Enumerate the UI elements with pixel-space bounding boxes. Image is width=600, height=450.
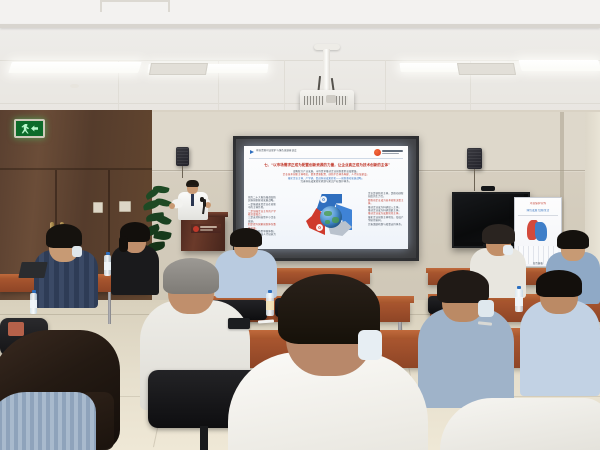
running-man-icon (21, 124, 30, 134)
slide-right-line: 强化企业创新主体地位，形成产学研用协同。 (368, 216, 404, 223)
video-conference-camera (481, 186, 495, 191)
slide-left-line: 党的二十大报告强调加快实施创新驱动发展战略。 (248, 196, 278, 203)
podium-microphone (200, 197, 204, 202)
bullet-triangle-icon (250, 150, 254, 154)
recycle-badge-icon: ♻ (316, 224, 323, 231)
speaker-cable (474, 169, 475, 191)
ceiling-tile-line (100, 0, 102, 12)
ceiling-light (518, 60, 600, 71)
slide-right-line: 要推动企业成为技术创新决策主体。 (368, 199, 404, 206)
ceiling-vent (457, 63, 516, 75)
presenter-hand (169, 203, 175, 209)
globe-icon (320, 206, 342, 228)
smartphone[interactable] (228, 318, 250, 329)
speaker-cable (182, 166, 183, 178)
ceiling-tile-line (0, 60, 600, 61)
ceiling-tile-line (168, 0, 170, 12)
exit-sign-label: EXIT (29, 128, 30, 129)
ceiling-tile-line (100, 0, 170, 2)
ceiling-light (8, 62, 142, 73)
recycle-badge-icon: ♻ (320, 196, 327, 203)
chair-post (200, 426, 208, 450)
paper-cup[interactable] (8, 322, 24, 336)
slide-right-line: 企业是创新的主体，是推动创新创造的生力军。 (368, 192, 404, 199)
wall-speaker (467, 148, 482, 169)
ceiling-plenum (0, 0, 600, 26)
projector-mount-pole (323, 49, 330, 91)
wall-speaker (176, 147, 189, 166)
slide-left-line: 二是加强企业主导的产学研深度融合。 (248, 210, 278, 217)
ceiling-beam (0, 24, 600, 28)
podium (181, 215, 225, 251)
slide-header: 环境资源司法保护与绿色发展座谈会 生产经营管理部 (244, 146, 408, 158)
poster-subheading: 绿色发展 低碳生活 (519, 209, 557, 212)
slide-body-line: 完善科技成果转化机制与知识产权保护体系。 (252, 180, 400, 183)
water-bottle[interactable] (515, 286, 523, 312)
conference-room-photo: EXIT 环境资源司法保护与绿色发展座谈会 生产经营管理部 七、“以市场需 (0, 0, 600, 450)
slide-body-block: 战略新兴产业发展，市场需求推动企业创新要素高效聚集。 企业技术创新主体地位，要素… (252, 170, 400, 184)
light-switch[interactable] (119, 201, 131, 212)
slide-logo-text-group (382, 150, 403, 154)
left-arrow-icon (31, 125, 38, 132)
slide-left-line: 一是强调发挥企业在创新中的主体作用。 (248, 203, 278, 210)
poster-figure-blue (535, 222, 547, 241)
recycle-diagram: ♻ ♻ (306, 194, 352, 238)
ceiling-vent (149, 63, 208, 75)
light-switch[interactable] (93, 202, 103, 213)
water-bottle[interactable] (266, 290, 274, 316)
podium-nameplate: 生产经营管理部 (191, 224, 221, 233)
ponytail (119, 236, 128, 252)
company-logo-icon (374, 149, 381, 156)
presenter-glasses (188, 185, 197, 187)
poster-figure (525, 220, 549, 242)
slide-logo: 生产经营管理部 (374, 149, 404, 156)
slide-right-line: 完善激励机制与政策支持体系。 (368, 223, 404, 226)
water-bottle[interactable] (104, 252, 111, 276)
presenter-tie (191, 194, 194, 206)
smoke-detector-icon (70, 84, 79, 88)
slide-title: 七、“以市场需求正成为配置创新资源的力量，让企业真正成为技术创新的主体” (254, 163, 400, 168)
podium-logo-icon (193, 226, 199, 232)
slide-header-rule (249, 158, 403, 159)
door-header (0, 168, 152, 170)
face-mask (358, 330, 382, 360)
slide-left-line: 三是支持科技型中小企业发展。 (248, 216, 278, 223)
exit-sign: EXIT (14, 119, 45, 138)
slide-right-column: 企业是创新的主体，是推动创新创造的生力军。 要推动企业成为技术创新决策主体。 推… (368, 192, 404, 226)
presentation-slide: 环境资源司法保护与绿色发展座谈会 生产经营管理部 七、“以市场需求正成为配置创新… (244, 146, 408, 249)
slide-header-text: 环境资源司法保护与绿色发展座谈会 (256, 149, 351, 152)
poster-rule (518, 215, 558, 216)
laptop[interactable] (18, 262, 47, 278)
face-mask (478, 300, 494, 317)
water-bottle[interactable] (30, 290, 37, 314)
poster-heading: 环境保护宣传 (519, 202, 557, 205)
table-leg (108, 292, 111, 324)
